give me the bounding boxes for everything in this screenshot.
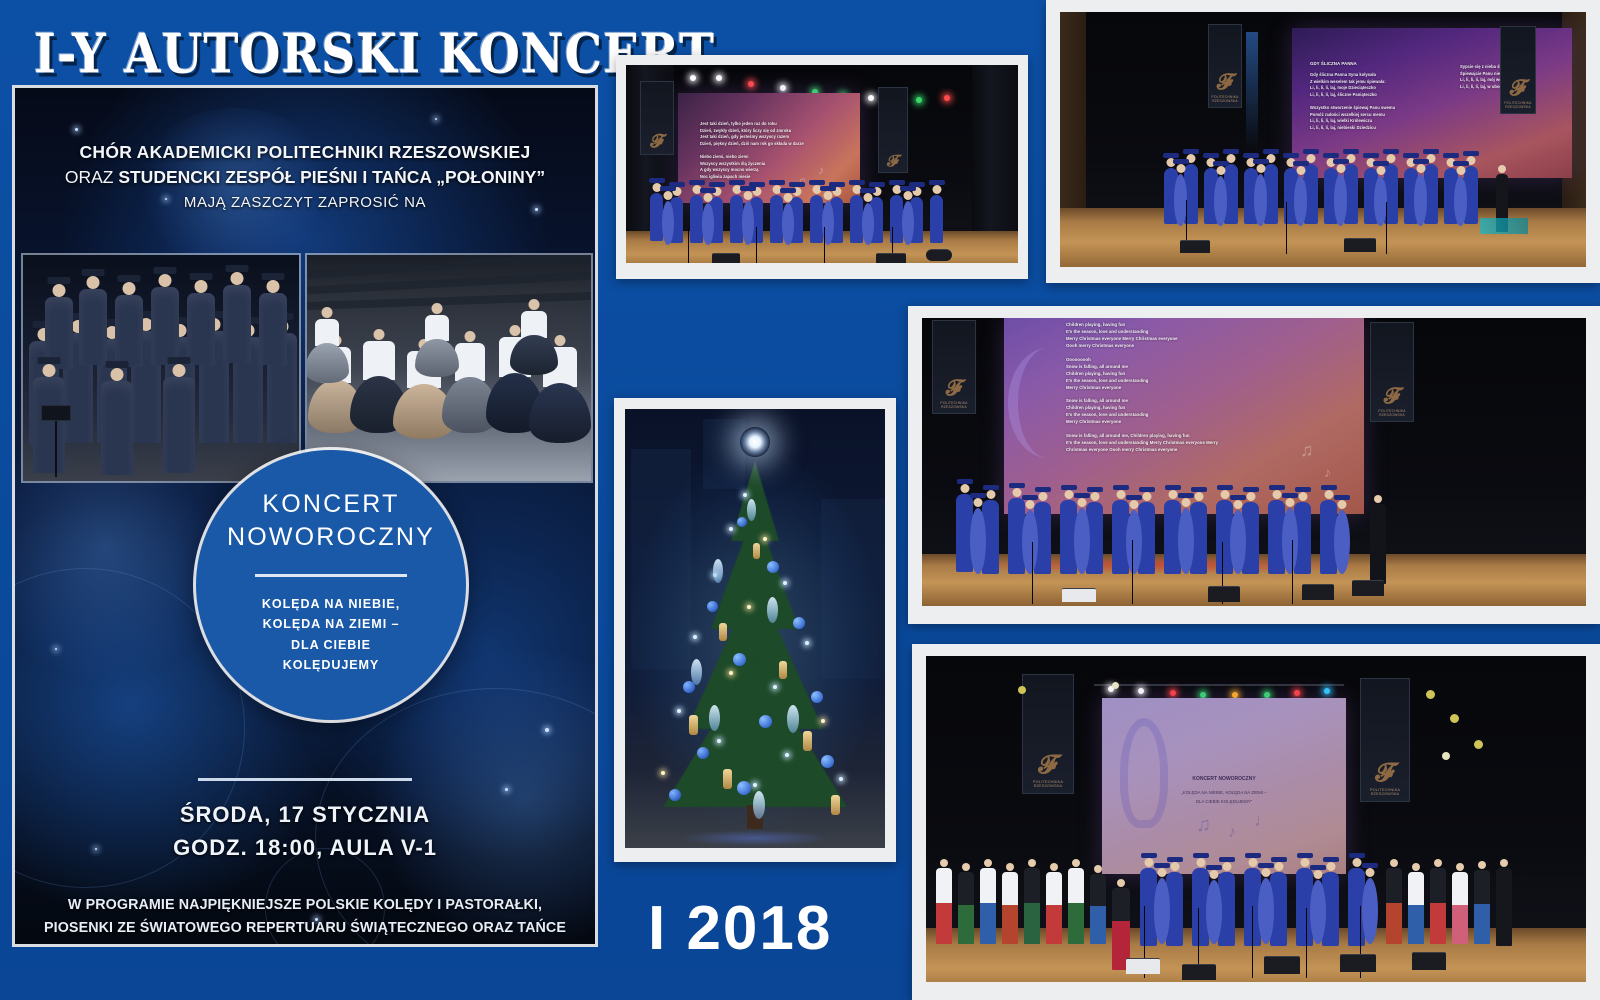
year-caption: I 2018 [648, 898, 832, 960]
concert-title-circle: KONCERT NOWOROCZNY KOLĘDA NA NIEBIE, KOL… [196, 450, 466, 720]
ornament [759, 715, 772, 728]
music-note-icon: ♩ [1254, 810, 1272, 831]
poster-inset-choir-photo [21, 253, 301, 483]
circle-subtitle-line1: KOLĘDA NA NIEBIE, [262, 594, 400, 614]
poster-header-line2-prefix: ORAZ [65, 167, 118, 187]
ornament-gold [689, 715, 698, 735]
banner-text: POLITECHNIKARZESZOWSKA [940, 401, 967, 410]
banner-text: POLITECHNIKARZESZOWSKA [1378, 409, 1405, 418]
ornament-gold [753, 543, 760, 559]
ornament-icicle [767, 597, 778, 623]
pk-logo-icon: 𝓕 [1384, 387, 1400, 407]
circle-subtitle-line3: DLA CIEBIE [291, 635, 371, 655]
poster-inset-dance-photo [305, 253, 593, 483]
banner-text: POLITECHNIKARZESZOWSKA [1370, 788, 1400, 797]
stage-scene: Jest taki dzień, tylko jeden raz do roku… [626, 65, 1018, 263]
photo-finale-full-ensemble: KONCERT NOWOROCZNY „KOLĘDA NA NIEBIE, KO… [912, 644, 1600, 1000]
university-banner: 𝓕 POLITECHNIKARZESZOWSKA [1360, 678, 1410, 802]
circle-title-line1: KONCERT [262, 488, 399, 521]
music-note-icon: ♫ [1196, 814, 1211, 837]
event-date: ŚRODA, 17 STYCZNIA [15, 799, 595, 832]
ornament [821, 755, 834, 768]
poster-header-line3: MAJĄ ZASZCZYT ZAPROSIĆ NA [15, 194, 595, 211]
dance-photo-scene [307, 255, 591, 481]
screen-lyrics: Children playing, having fun It's the se… [1066, 322, 1336, 454]
ornament [793, 617, 805, 629]
ornament [737, 517, 747, 527]
pk-logo-icon: 𝓕 [946, 379, 962, 399]
date-divider [198, 778, 412, 781]
photo-choir-pink-screen: Jest taki dzień, tylko jeden raz do roku… [616, 55, 1028, 279]
university-banner: 𝓕 [878, 87, 908, 173]
pk-logo-icon: 𝓕 [1217, 73, 1233, 93]
photo-christmas-tree [614, 398, 896, 862]
page-title: I-Y AUTORSKI KONCERT [34, 22, 715, 86]
stage-scene: Children playing, having fun It's the se… [922, 318, 1586, 606]
music-note-icon: ♪ [818, 163, 824, 177]
ornament-icicle [747, 499, 756, 521]
screen-title: GDY ŚLICZNA PANNA [1310, 60, 1357, 67]
music-stand-icon [41, 405, 71, 421]
music-note-icon: ♪ [1324, 464, 1331, 480]
star-decor [435, 118, 437, 120]
star-decor [55, 648, 57, 650]
university-banner: 𝓕 POLITECHNIKARZESZOWSKA [1022, 674, 1074, 794]
university-banner: 𝓕 POLITECHNIKARZESZOWSKA [1500, 26, 1536, 114]
poster-header-line2-bold: STUDENCKI ZESPÓŁ PIEŚNI I TAŃCA „POŁONIN… [118, 167, 545, 187]
university-banner: 𝓕 POLITECHNIKARZESZOWSKA [1208, 24, 1242, 108]
circle-divider [255, 574, 407, 577]
star-decor [545, 728, 549, 732]
program-description: W PROGRAMIE NAJPIĘKNIEJSZE POLSKIE KOLĘD… [33, 894, 577, 939]
ornament-icicle [709, 705, 720, 731]
collage-canvas: I-Y AUTORSKI KONCERT CHÓR AKADEMICKI POL… [0, 0, 1600, 1000]
ornament-gold [779, 661, 787, 679]
poster-header-line1: CHÓR AKADEMICKI POLITECHNIKI RZESZOWSKIE… [15, 140, 595, 165]
pk-logo-icon: 𝓕 [1375, 762, 1394, 785]
ornament-icicle [691, 659, 702, 685]
star-decor [75, 128, 78, 131]
poster-header-line2: ORAZ STUDENCKI ZESPÓŁ PIEŚNI I TAŃCA „PO… [15, 165, 595, 190]
circle-subtitle-line2: KOLĘDA NA ZIEMI – [263, 614, 400, 634]
ornament-icicle [787, 705, 799, 733]
ornament [767, 561, 779, 573]
conductor-figure [1370, 504, 1386, 584]
banner-text: POLITECHNIKARZESZOWSKA [1211, 95, 1238, 104]
music-note-icon: ♫ [1300, 440, 1314, 461]
ornament-gold [803, 731, 812, 751]
stage-scene: GDY ŚLICZNA PANNA Gdy śliczna Panna Syna… [1060, 12, 1586, 267]
university-banner: 𝓕 POLITECHNIKARZESZOWSKA [1370, 322, 1414, 422]
ornament [811, 691, 823, 703]
ornament [697, 747, 709, 759]
circle-subtitle-line4: KOLĘDUJEMY [283, 655, 379, 675]
ornament [669, 789, 681, 801]
pk-logo-icon: 𝓕 [1038, 754, 1057, 777]
pk-logo-icon: 𝓕 [650, 134, 663, 150]
ornament-gold [719, 623, 727, 641]
poster-header: CHÓR AKADEMICKI POLITECHNIKI RZESZOWSKIE… [15, 140, 595, 211]
program-line1: W PROGRAMIE NAJPIĘKNIEJSZE POLSKIE KOLĘD… [33, 894, 577, 917]
pk-logo-icon: 𝓕 [887, 154, 899, 168]
music-note-icon: ♪ [1228, 824, 1236, 842]
circle-title-line2: NOWOROCZNY [227, 521, 435, 554]
university-banner: 𝓕 [640, 81, 674, 155]
pk-logo-icon: 𝓕 [1510, 79, 1526, 99]
ornament-gold [723, 769, 732, 789]
concert-poster: CHÓR AKADEMICKI POLITECHNIKI RZESZOWSKIE… [12, 85, 598, 947]
university-banner: 𝓕 POLITECHNIKARZESZOWSKA [932, 320, 976, 414]
ornament [707, 601, 718, 612]
screen-lyrics-col1: Gdy śliczna Panna Syna kołysała Z wielki… [1310, 72, 1440, 132]
banner-text: POLITECHNIKARZESZOWSKA [1504, 101, 1531, 110]
ornament-gold [831, 795, 840, 815]
stage-scene: KONCERT NOWOROCZNY „KOLĘDA NA NIEBIE, KO… [926, 656, 1586, 982]
ornament [737, 781, 751, 795]
choir-photo-scene [23, 255, 299, 481]
ornament-icicle [713, 559, 723, 583]
christmas-tree-scene [625, 409, 885, 848]
ornament [733, 653, 746, 666]
photo-choir-english-screen: Children playing, having fun It's the se… [908, 306, 1600, 624]
program-line2: PIOSENKI ZE ŚWIATOWEGO REPERTUARU ŚWIĄTE… [33, 917, 577, 940]
ornament-icicle [753, 791, 765, 819]
event-date-block: ŚRODA, 17 STYCZNIA GODZ. 18:00, AULA V-1 [15, 778, 595, 864]
event-time-venue: GODZ. 18:00, AULA V-1 [15, 832, 595, 865]
banner-text: POLITECHNIKARZESZOWSKA [1033, 780, 1063, 789]
photo-choir-purple-screen: GDY ŚLICZNA PANNA Gdy śliczna Panna Syna… [1046, 0, 1600, 283]
